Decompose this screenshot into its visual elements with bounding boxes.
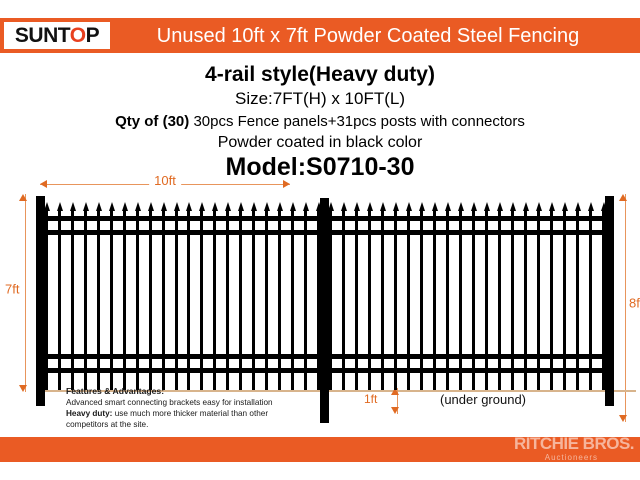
fence-picket — [342, 210, 345, 390]
picket-spear-tip-icon — [354, 202, 360, 211]
picket-spear-tip-icon — [174, 202, 180, 211]
suntop-logo: SUNTOP — [4, 22, 110, 49]
fence-picket — [149, 210, 152, 390]
picket-spear-tip-icon — [290, 202, 296, 211]
arrow-left-icon — [40, 180, 47, 188]
fence-picket — [498, 210, 501, 390]
picket-spear-tip-icon — [277, 202, 283, 211]
picket-spear-tip-icon — [497, 202, 503, 211]
picket-spear-tip-icon — [96, 202, 102, 211]
picket-spear-tip-icon — [406, 202, 412, 211]
arrow-down-icon — [19, 385, 27, 392]
picket-spear-tip-icon — [109, 202, 115, 211]
logo-accent-letter: O — [70, 24, 86, 47]
dimension-width-label: 10ft — [149, 173, 181, 188]
fence-picket — [576, 210, 579, 390]
fence-picket — [213, 210, 216, 390]
picket-spear-tip-icon — [510, 202, 516, 211]
picket-spear-tip-icon — [161, 202, 167, 211]
fence-picket — [45, 210, 48, 390]
picket-spear-tip-icon — [57, 202, 63, 211]
spec-quantity: Qty of (30) 30pcs Fence panels+31pcs pos… — [0, 113, 640, 130]
fence-picket — [278, 210, 281, 390]
fence-picket — [485, 210, 488, 390]
spec-quantity-bold: Qty of (30) — [115, 113, 189, 130]
fence-picket — [136, 210, 139, 390]
features-block: Features & Advantages: Advanced smart co… — [66, 386, 326, 430]
dimension-line-vertical-left — [25, 194, 26, 392]
fence-picket — [329, 210, 332, 390]
fence-picket — [252, 210, 255, 390]
picket-spear-tip-icon — [122, 202, 128, 211]
picket-spear-tip-icon — [575, 202, 581, 211]
fence-picket — [97, 210, 100, 390]
underground-note: (under ground) — [440, 392, 526, 407]
fence-picket — [304, 210, 307, 390]
fence-picket — [317, 210, 320, 390]
picket-spear-tip-icon — [458, 202, 464, 211]
dimension-underground-1ft: 1ft (under ground) — [394, 388, 406, 414]
watermark-sub-text: Auctioneers — [424, 453, 598, 462]
fence-picket — [394, 210, 397, 390]
fence-picket — [368, 210, 371, 390]
features-line-2-bold: Heavy duty: — [66, 409, 112, 418]
fence-picket — [71, 210, 74, 390]
fence-picket — [239, 210, 242, 390]
dimension-underground-label: 1ft — [364, 392, 377, 406]
fence-picket — [200, 210, 203, 390]
picket-spear-tip-icon — [471, 202, 477, 211]
fence-structure — [36, 196, 614, 390]
picket-spear-tip-icon — [562, 202, 568, 211]
arrow-up-icon — [619, 194, 627, 201]
fence-picket — [524, 210, 527, 390]
fence-picket — [355, 210, 358, 390]
features-line-2-rest: use much more thicker material than othe… — [112, 409, 268, 418]
dimension-height-7ft: 7ft — [22, 194, 36, 392]
picket-spear-tip-icon — [44, 202, 50, 211]
fence-picket — [58, 210, 61, 390]
spec-quantity-rest: 30pcs Fence panels+31pcs posts with conn… — [189, 113, 525, 130]
picket-spear-tip-icon — [264, 202, 270, 211]
dimension-width-10ft: 10ft — [40, 176, 290, 192]
dimension-height-left-label: 7ft — [4, 279, 20, 300]
dimension-height-8ft: 8ft — [622, 194, 636, 422]
fence-picket — [265, 210, 268, 390]
fence-picket — [459, 210, 462, 390]
arrow-up-icon — [19, 194, 27, 201]
fence-picket — [123, 210, 126, 390]
logo-text: SUNTOP — [15, 25, 99, 46]
features-line-1: Advanced smart connecting brackets easy … — [66, 397, 326, 408]
fence-picket — [563, 210, 566, 390]
header-bar: SUNTOP Unused 10ft x 7ft Powder Coated S… — [0, 18, 640, 53]
fence-picket — [381, 210, 384, 390]
fence-picket — [226, 210, 229, 390]
picket-spear-tip-icon — [536, 202, 542, 211]
picket-spear-tip-icon — [303, 202, 309, 211]
picket-spear-tip-icon — [523, 202, 529, 211]
fence-picket — [602, 210, 605, 390]
picket-spear-tip-icon — [432, 202, 438, 211]
picket-spear-tip-icon — [316, 202, 322, 211]
picket-spear-tip-icon — [484, 202, 490, 211]
fence-picket — [511, 210, 514, 390]
logo-suffix: P — [86, 24, 100, 47]
picket-spear-tip-icon — [70, 202, 76, 211]
picket-spear-tip-icon — [135, 202, 141, 211]
fence-picket — [433, 210, 436, 390]
fence-picket — [550, 210, 553, 390]
picket-spear-tip-icon — [199, 202, 205, 211]
picket-spear-tip-icon — [186, 202, 192, 211]
fence-picket — [162, 210, 165, 390]
features-line-3: competitors at the site. — [66, 419, 326, 430]
picket-spear-tip-icon — [601, 202, 607, 211]
picket-spear-tip-icon — [251, 202, 257, 211]
arrow-down-icon — [619, 415, 627, 422]
features-heading: Features & Advantages: — [66, 386, 326, 397]
picket-spear-tip-icon — [212, 202, 218, 211]
fence-post-left — [36, 196, 45, 406]
logo-prefix: SUNT — [15, 24, 70, 47]
fence-picket — [537, 210, 540, 390]
fence-picket — [84, 210, 87, 390]
picket-spear-tip-icon — [148, 202, 154, 211]
fence-picket — [589, 210, 592, 390]
fence-picket — [446, 210, 449, 390]
picket-spear-tip-icon — [238, 202, 244, 211]
picket-spear-tip-icon — [380, 202, 386, 211]
picket-spear-tip-icon — [225, 202, 231, 211]
fence-picket — [420, 210, 423, 390]
features-line-2: Heavy duty: use much more thicker materi… — [66, 408, 326, 419]
spec-coating: Powder coated in black color — [0, 134, 640, 152]
fence-picket — [407, 210, 410, 390]
fence-picket — [291, 210, 294, 390]
dimension-height-right-label: 8ft — [628, 293, 640, 314]
picket-spear-tip-icon — [393, 202, 399, 211]
spec-size: Size:7FT(H) x 10FT(L) — [0, 89, 640, 109]
dimension-line-vertical-right — [625, 194, 626, 422]
arrow-right-icon — [283, 180, 290, 188]
picket-spear-tip-icon — [83, 202, 89, 211]
fence-picket — [110, 210, 113, 390]
picket-spear-tip-icon — [549, 202, 555, 211]
header-title: Unused 10ft x 7ft Powder Coated Steel Fe… — [110, 26, 640, 46]
picket-spear-tip-icon — [445, 202, 451, 211]
picket-spear-tip-icon — [588, 202, 594, 211]
spec-style: 4-rail style(Heavy duty) — [0, 63, 640, 87]
ritchie-bros-watermark: RITCHIE BROS. Auctioneers — [424, 434, 634, 464]
fence-picket — [472, 210, 475, 390]
watermark-main-text: RITCHIE BROS. — [424, 434, 634, 453]
picket-spear-tip-icon — [341, 202, 347, 211]
fence-panel — [45, 202, 320, 390]
fence-panel — [329, 202, 605, 390]
picket-spear-tip-icon — [328, 202, 334, 211]
picket-spear-tip-icon — [367, 202, 373, 211]
picket-spear-tip-icon — [419, 202, 425, 211]
fence-picket — [175, 210, 178, 390]
fence-post-right — [605, 196, 614, 406]
fence-picket — [187, 210, 190, 390]
arrow-down-icon — [391, 407, 399, 414]
